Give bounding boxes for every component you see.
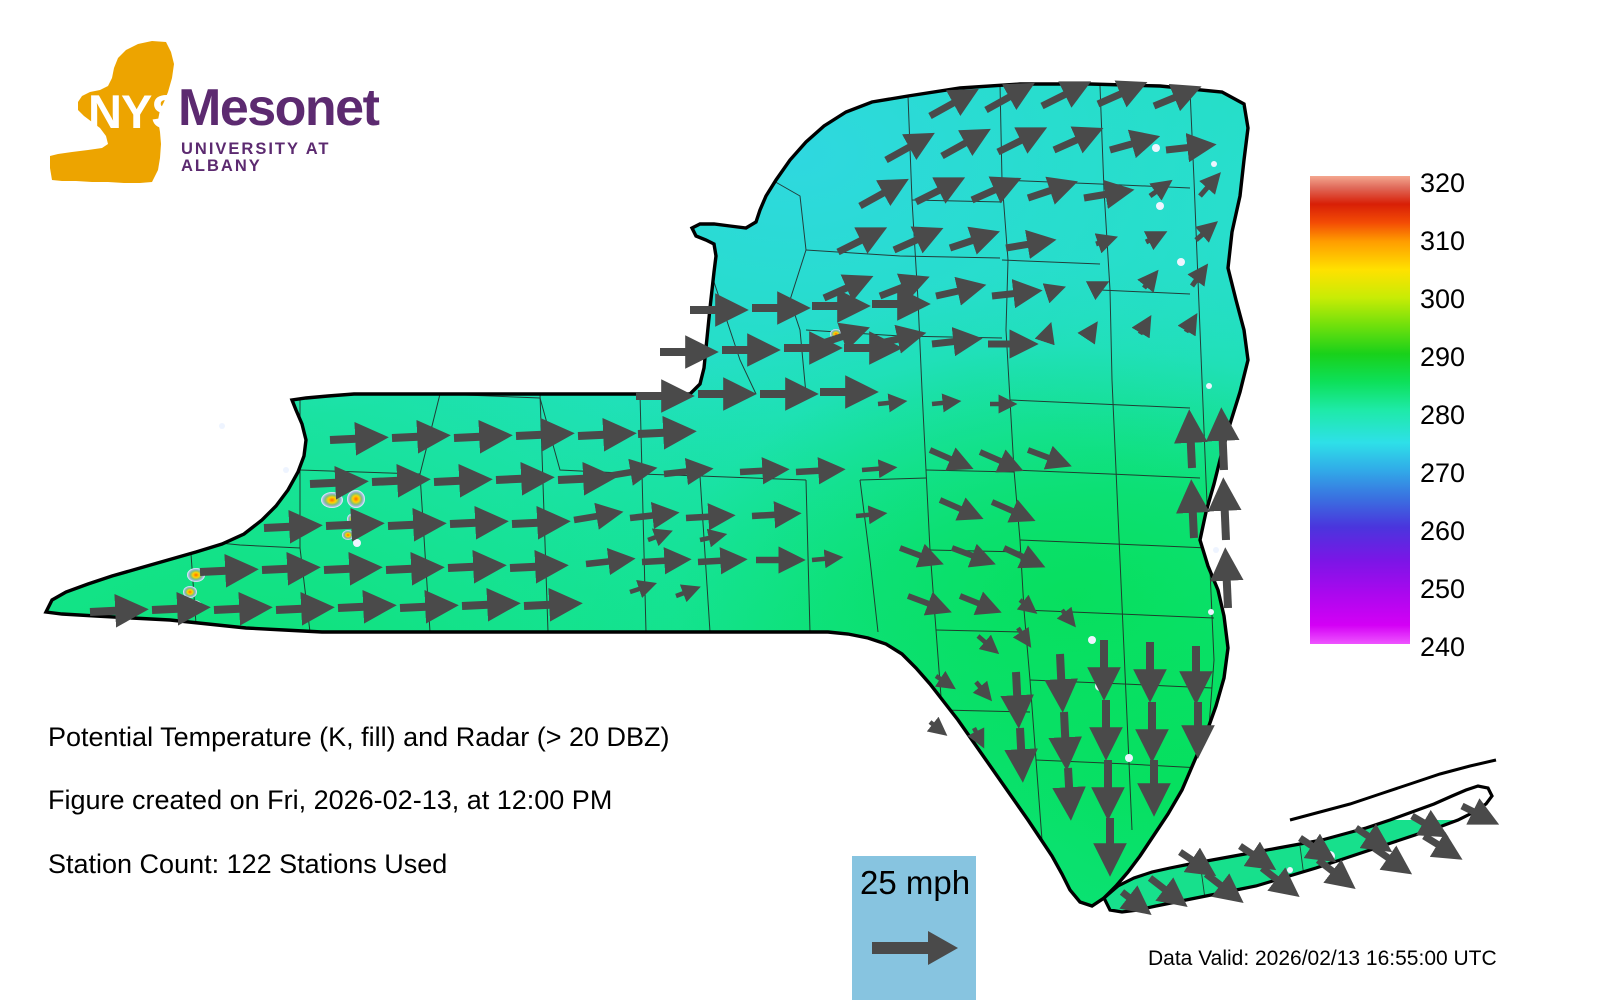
colorbar-gradient: [1310, 176, 1410, 644]
colorbar-tick-260: 260: [1420, 518, 1465, 545]
colorbar-tick-280: 280: [1420, 402, 1465, 429]
colorbar-tick-270: 270: [1420, 460, 1465, 487]
figure-created-text: Figure created on Fri, 2026-02-13, at 12…: [48, 785, 612, 816]
colorbar-tick-320: 320: [1420, 170, 1465, 197]
wind-scale-label: 25 mph: [860, 864, 970, 902]
colorbar-tick-310: 310: [1420, 228, 1465, 255]
colorbar-tick-240: 240: [1420, 634, 1465, 661]
wind-scale-legend: 25 mph: [852, 856, 976, 1000]
logo-mesonet-text: Mesonet: [178, 82, 378, 134]
logo-nys-text: NYS: [88, 88, 182, 135]
colorbar-tick-300: 300: [1420, 286, 1465, 313]
logo-university-text: UNIVERSITY AT ALBANY: [181, 141, 408, 174]
station-count-text: Station Count: 122 Stations Used: [48, 849, 447, 880]
right-arrow-icon: [870, 928, 960, 968]
data-valid-text: Data Valid: 2026/02/13 16:55:00 UTC: [1148, 947, 1497, 971]
colorbar-tick-290: 290: [1420, 344, 1465, 371]
figure-title: Potential Temperature (K, fill) and Rada…: [48, 722, 670, 753]
colorbar-tick-250: 250: [1420, 576, 1465, 603]
